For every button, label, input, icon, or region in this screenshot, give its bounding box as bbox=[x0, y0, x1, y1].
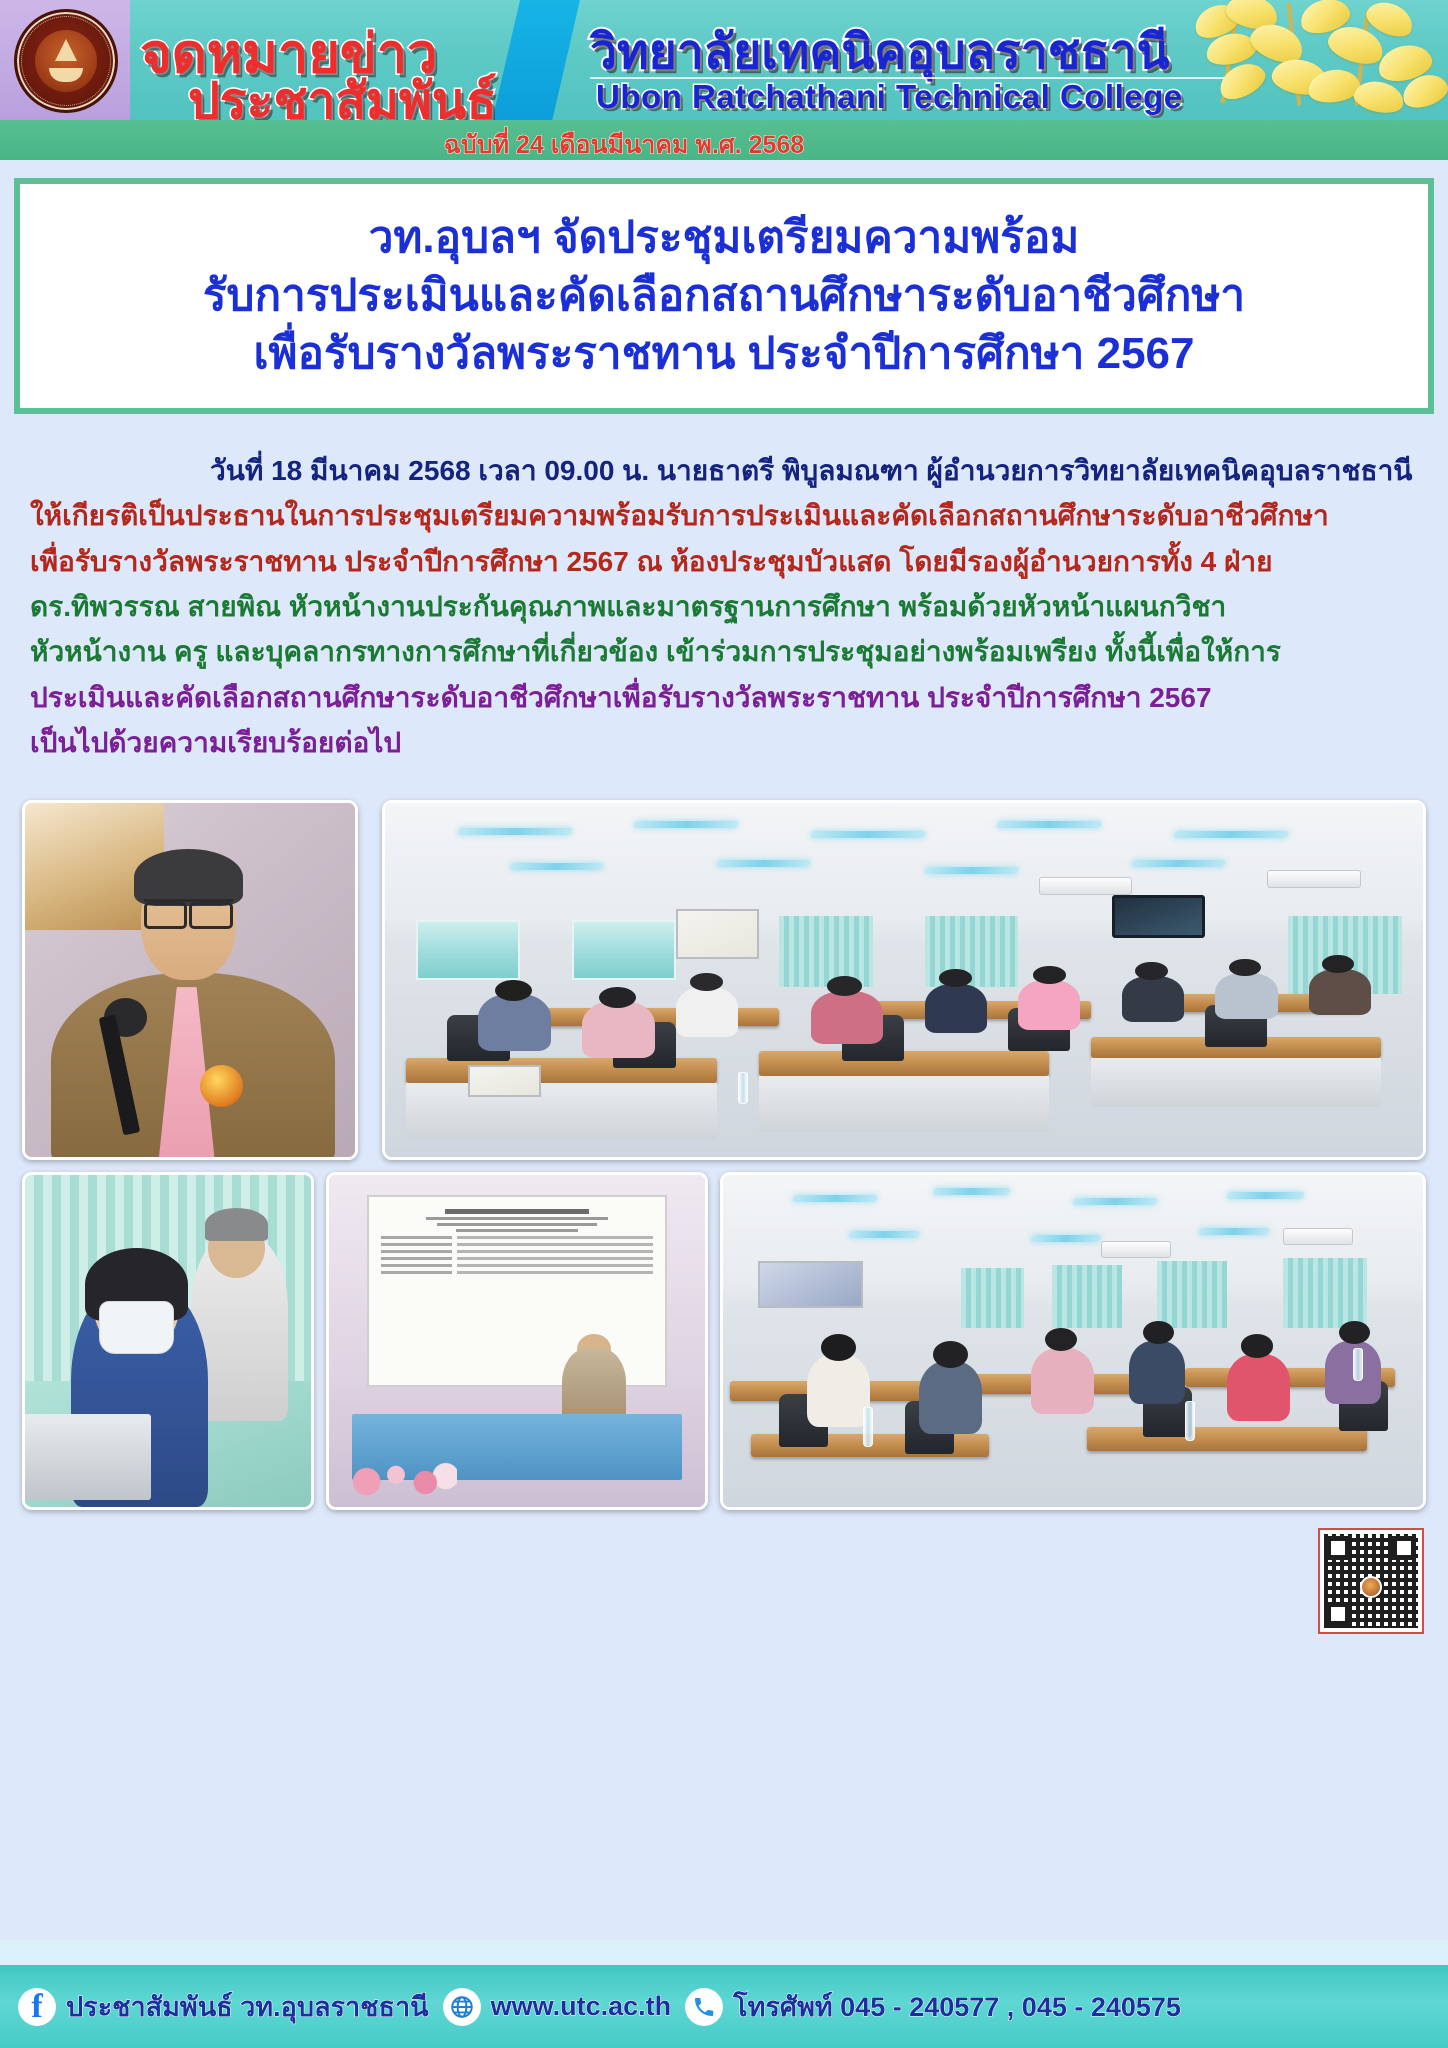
globe-icon bbox=[443, 1988, 481, 2026]
article-body: วันที่ 18 มีนาคม 2568 เวลา 09.00 น. นายธ… bbox=[30, 448, 1422, 766]
seal-emblem bbox=[35, 30, 97, 92]
headline-line-1: วท.อุบลฯ จัดประชุมเตรียมความพร้อม bbox=[369, 209, 1080, 267]
photo-director-speaking bbox=[22, 800, 358, 1160]
cassia-flower-decoration bbox=[1188, 0, 1448, 120]
headline-line-2: รับการประเมินและคัดเลือกสถานศึกษาระดับอา… bbox=[203, 267, 1245, 325]
body-line: ดร.ทิพวรรณ สายพิณ หัวหน้างานประกันคุณภาพ… bbox=[30, 584, 1422, 629]
headline-box: วท.อุบลฯ จัดประชุมเตรียมความพร้อม รับการ… bbox=[14, 178, 1434, 414]
photo-audience-seated bbox=[720, 1172, 1426, 1510]
issue-date: ฉบับที่ 24 เดือนมีนาคม พ.ศ. 2568 bbox=[0, 125, 1448, 165]
newsletter-title-line2: ประชาสัมพันธ์ bbox=[188, 62, 497, 120]
footer-phone[interactable]: โทรศัพท์ 045 - 240577 , 045 - 240575 bbox=[685, 1985, 1181, 2028]
issue-date-band: ฉบับที่ 24 เดือนมีนาคม พ.ศ. 2568 bbox=[0, 120, 1448, 160]
footer-facebook-label: ประชาสัมพันธ์ วท.อุบลราชธานี bbox=[66, 1985, 429, 2028]
body-line: วันที่ 18 มีนาคม 2568 เวลา 09.00 น. นายธ… bbox=[30, 448, 1422, 493]
body-line: ให้เกียรติเป็นประธานในการประชุมเตรียมควา… bbox=[30, 493, 1422, 538]
footer-spacer bbox=[0, 1940, 1448, 1965]
page-footer: f ประชาสัมพันธ์ วท.อุบลราชธานี www.utc.a… bbox=[0, 1965, 1448, 2048]
footer-website[interactable]: www.utc.ac.th bbox=[443, 1988, 672, 2026]
body-line: เพื่อรับรางวัลพระราชทาน ประจำปีการศึกษา … bbox=[30, 539, 1422, 584]
body-line: เป็นไปด้วยความเรียบร้อยต่อไป bbox=[30, 720, 1422, 765]
phone-icon bbox=[685, 1988, 723, 2026]
footer-phone-label: โทรศัพท์ 045 - 240577 , 045 - 240575 bbox=[733, 1985, 1181, 2028]
footer-facebook[interactable]: f ประชาสัมพันธ์ วท.อุบลราชธานี bbox=[18, 1985, 429, 2028]
qr-code[interactable] bbox=[1318, 1528, 1424, 1634]
header-diagonal-divider bbox=[488, 0, 583, 120]
photo-meeting-room-wide bbox=[382, 800, 1426, 1160]
body-line: หัวหน้างาน ครู และบุคลากรทางการศึกษาที่เ… bbox=[30, 629, 1422, 674]
college-seal-icon bbox=[14, 9, 118, 113]
newsletter-page: จดหมายข่าว ประชาสัมพันธ์ วิทยาลัยเทคนิคอ… bbox=[0, 0, 1448, 2048]
facebook-icon: f bbox=[18, 1988, 56, 2026]
qr-center-logo bbox=[1360, 1576, 1382, 1598]
college-name-english: Ubon Ratchathani Technical College bbox=[596, 78, 1183, 116]
qr-finder-top-left bbox=[1326, 1536, 1350, 1560]
page-header: จดหมายข่าว ประชาสัมพันธ์ วิทยาลัยเทคนิคอ… bbox=[0, 0, 1448, 120]
photo-presentation-slide bbox=[326, 1172, 708, 1510]
footer-website-label: www.utc.ac.th bbox=[491, 1991, 672, 2022]
headline-line-3: เพื่อรับรางวัลพระราชทาน ประจำปีการศึกษา … bbox=[254, 325, 1195, 383]
qr-finder-top-right bbox=[1392, 1536, 1416, 1560]
qr-finder-bottom-left bbox=[1326, 1602, 1350, 1626]
body-line: ประเมินและคัดเลือกสถานศึกษาระดับอาชีวศึก… bbox=[30, 675, 1422, 720]
photo-staff-with-laptop bbox=[22, 1172, 314, 1510]
